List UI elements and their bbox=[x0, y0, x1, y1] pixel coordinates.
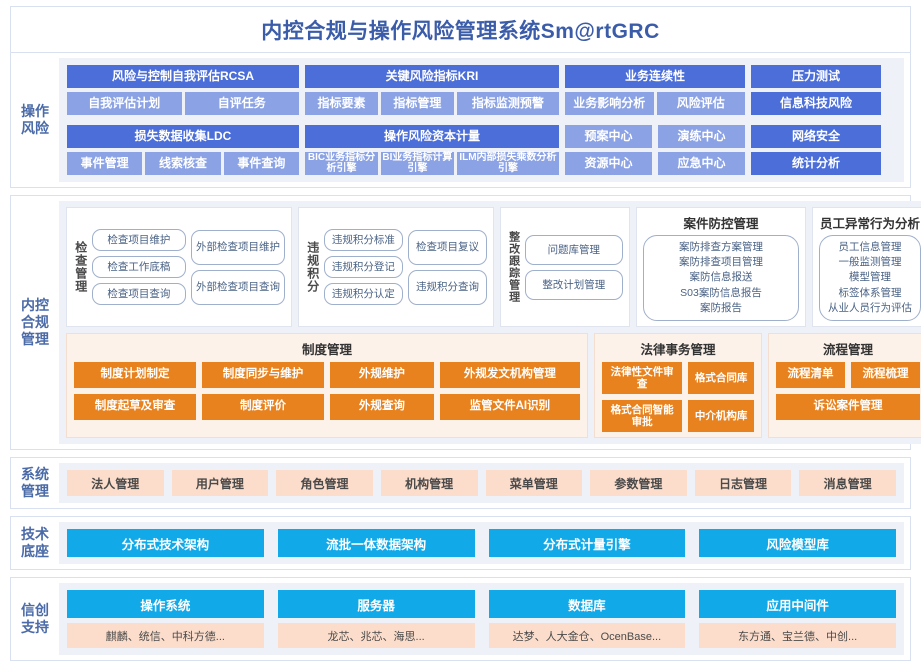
sys-item-org-management[interactable]: 机构管理 bbox=[381, 470, 478, 496]
band-operational-risk: 操作 风险 风险与控制自我评估RCSA 自我评估计划 自评任务 关键风险指标 bbox=[10, 52, 911, 188]
xc-group-middleware: 应用中间件 东方通、宝兰德、中创... bbox=[699, 590, 896, 648]
ic-list-item[interactable]: 案防排查方案管理 bbox=[652, 240, 790, 255]
op-item-bi-engine[interactable]: BI业务指标计算引擎 bbox=[381, 152, 454, 175]
op-item-plan-center[interactable]: 预案中心 bbox=[565, 125, 652, 148]
label-line: 技术 bbox=[21, 526, 49, 543]
ic-pill-inspection-working-paper[interactable]: 检查工作底稿 bbox=[92, 256, 186, 278]
or-item-policy-draft-review[interactable]: 制度起草及审查 bbox=[74, 394, 196, 420]
page-title-bar: 内控合规与操作风险管理系统Sm@rtGRC bbox=[10, 6, 911, 52]
xc-title-os[interactable]: 操作系统 bbox=[67, 590, 264, 618]
op-group-plan-center: 预案中心 资源中心 bbox=[565, 125, 652, 175]
ic-title-employee-behavior: 员工异常行为分析 bbox=[819, 213, 921, 232]
or-item-external-rule-query[interactable]: 外规查询 bbox=[330, 394, 434, 420]
band-label-xinchuang-support: 信创 支持 bbox=[11, 578, 59, 660]
op-group-capital-measurement: 操作风险资本计量 BIC业务指标分析引擎 BI业务指标计算引擎 ILM内部损失乘… bbox=[305, 125, 559, 175]
ic-card-inspection-management: 检查管理 检查项目维护 检查工作底稿 检查项目查询 外部检查项目维护 外部检查项… bbox=[66, 207, 292, 327]
op-item-it-risk[interactable]: 信息科技风险 bbox=[751, 92, 881, 115]
ic-card-row: 检查管理 检查项目维护 检查工作底稿 检查项目查询 外部检查项目维护 外部检查项… bbox=[66, 207, 921, 327]
or-card-legal-affairs: 法律事务管理 法律性文件审查 格式合同智能审批 格式合同库 中介机构库 bbox=[594, 333, 762, 438]
ic-pill-rectification-plan-management[interactable]: 整改计划管理 bbox=[525, 270, 623, 300]
or-item-external-issuing-agency-mgmt[interactable]: 外规发文机构管理 bbox=[440, 362, 580, 388]
op-group-business-continuity: 业务连续性 业务影响分析 风险评估 bbox=[565, 65, 745, 115]
ic-card-employee-behavior: 员工异常行为分析 员工信息管理 一般监测管理 模型管理 标签体系管理 从业人员行… bbox=[812, 207, 921, 327]
op-group-drill-center: 演练中心 应急中心 bbox=[658, 125, 745, 175]
xc-group-os: 操作系统 麒麟、统信、中科方德... bbox=[67, 590, 264, 648]
tech-item-distributed-measurement-engine[interactable]: 分布式计量引擎 bbox=[489, 529, 686, 557]
op-item-indicator-elements[interactable]: 指标要素 bbox=[305, 92, 378, 115]
band-body-internal-control: 检查管理 检查项目维护 检查工作底稿 检查项目查询 外部检查项目维护 外部检查项… bbox=[59, 201, 921, 444]
or-item-policy-evaluation[interactable]: 制度评价 bbox=[202, 394, 324, 420]
sys-item-menu-management[interactable]: 菜单管理 bbox=[486, 470, 583, 496]
ic-pill-external-inspection-maintain[interactable]: 外部检查项目维护 bbox=[191, 230, 285, 265]
op-item-emergency-center[interactable]: 应急中心 bbox=[658, 152, 745, 175]
page-title: 内控合规与操作风险管理系统Sm@rtGRC bbox=[261, 15, 660, 45]
tech-base-items: 分布式技术架构 流批一体数据架构 分布式计量引擎 风险模型库 bbox=[59, 522, 904, 564]
label-line: 管理 bbox=[21, 331, 49, 348]
ic-card-case-prevention: 案件防控管理 案防排查方案管理 案防排查项目管理 案防信息报送 S03案防信息报… bbox=[636, 207, 806, 327]
op-item-event-management[interactable]: 事件管理 bbox=[67, 152, 142, 175]
or-title-process-management: 流程管理 bbox=[776, 339, 920, 358]
xc-group-database: 数据库 达梦、人大金仓、OcenBase... bbox=[489, 590, 686, 648]
op-header-capital-measurement[interactable]: 操作风险资本计量 bbox=[305, 125, 559, 148]
tech-item-distributed-architecture[interactable]: 分布式技术架构 bbox=[67, 529, 264, 557]
or-item-regulatory-doc-ai-recognition[interactable]: 监管文件AI识别 bbox=[440, 394, 580, 420]
band-body-system-management: 法人管理 用户管理 角色管理 机构管理 菜单管理 参数管理 日志管理 消息管理 bbox=[59, 463, 904, 503]
op-item-self-assessment-plan[interactable]: 自我评估计划 bbox=[67, 92, 182, 115]
ic-list-item[interactable]: 标签体系管理 bbox=[828, 286, 912, 301]
sys-item-parameter-management[interactable]: 参数管理 bbox=[590, 470, 687, 496]
or-title-policy-management: 制度管理 bbox=[74, 339, 580, 358]
label-line: 管理 bbox=[21, 483, 49, 500]
ic-list-item[interactable]: 案防排查项目管理 bbox=[652, 255, 790, 270]
xc-title-database[interactable]: 数据库 bbox=[489, 590, 686, 618]
ic-pill-violation-point-query[interactable]: 违规积分查询 bbox=[408, 270, 487, 305]
op-risk-row-1: 风险与控制自我评估RCSA 自我评估计划 自评任务 关键风险指标KRI 指标要素… bbox=[67, 65, 896, 115]
op-item-self-assessment-task[interactable]: 自评任务 bbox=[185, 92, 300, 115]
label-line: 信创 bbox=[21, 602, 49, 619]
op-header-business-continuity[interactable]: 业务连续性 bbox=[565, 65, 745, 88]
or-item-policy-plan-formulation[interactable]: 制度计划制定 bbox=[74, 362, 196, 388]
op-group-stress-test: 压力测试 信息科技风险 bbox=[751, 65, 881, 115]
ic-pill-inspection-item-maintain[interactable]: 检查项目维护 bbox=[92, 229, 186, 251]
op-header-ldc[interactable]: 损失数据收集LDC bbox=[67, 125, 299, 148]
op-item-resource-center[interactable]: 资源中心 bbox=[565, 152, 652, 175]
sys-item-message-management[interactable]: 消息管理 bbox=[799, 470, 896, 496]
label-line: 内控 bbox=[21, 297, 49, 314]
ic-list-item[interactable]: 案防信息报送 bbox=[652, 270, 790, 285]
system-architecture-diagram: 内控合规与操作风险管理系统Sm@rtGRC 操作 风险 风险与控制自我评估RCS… bbox=[0, 0, 921, 640]
op-header-rcsa[interactable]: 风险与控制自我评估RCSA bbox=[67, 65, 299, 88]
xc-title-middleware[interactable]: 应用中间件 bbox=[699, 590, 896, 618]
ic-pill-issue-library-management[interactable]: 问题库管理 bbox=[525, 235, 623, 265]
or-item-process-combing[interactable]: 流程梳理 bbox=[851, 362, 920, 388]
op-item-clue-verification[interactable]: 线索核查 bbox=[145, 152, 220, 175]
or-item-external-rule-maintain[interactable]: 外规维护 bbox=[330, 362, 434, 388]
xc-desc-middleware: 东方通、宝兰德、中创... bbox=[699, 623, 896, 648]
ic-pill-external-inspection-query[interactable]: 外部检查项目查询 bbox=[191, 270, 285, 305]
band-body-tech-base: 分布式技术架构 流批一体数据架构 分布式计量引擎 风险模型库 bbox=[59, 522, 904, 564]
or-item-policy-sync-maintain[interactable]: 制度同步与维护 bbox=[202, 362, 324, 388]
label-line: 支持 bbox=[21, 619, 49, 636]
ic-pill-violation-point-register[interactable]: 违规积分登记 bbox=[324, 256, 403, 278]
band-label-operational-risk: 操作 风险 bbox=[11, 53, 59, 187]
tech-item-risk-model-library[interactable]: 风险模型库 bbox=[699, 529, 896, 557]
band-internal-control: 内控 合规 管理 检查管理 检查项目维护 检查工作底稿 检查项目查询 bbox=[10, 195, 911, 450]
ic-pill-inspection-item-query[interactable]: 检查项目查询 bbox=[92, 283, 186, 305]
ic-list-case-prevention[interactable]: 案防排查方案管理 案防排查项目管理 案防信息报送 S03案防信息报告 案防报告 bbox=[643, 235, 799, 321]
label-line: 合规 bbox=[21, 314, 49, 331]
xc-desc-server: 龙芯、兆芯、海思... bbox=[278, 623, 475, 648]
sys-item-log-management[interactable]: 日志管理 bbox=[695, 470, 792, 496]
op-item-business-impact-analysis[interactable]: 业务影响分析 bbox=[565, 92, 654, 115]
ic-title-case-prevention: 案件防控管理 bbox=[643, 213, 799, 232]
tech-item-stream-batch-data-architecture[interactable]: 流批一体数据架构 bbox=[278, 529, 475, 557]
label-line: 底座 bbox=[21, 543, 49, 560]
ic-pill-violation-point-confirm[interactable]: 违规积分认定 bbox=[324, 283, 403, 305]
ic-pill-inspection-item-review[interactable]: 检查项目复议 bbox=[408, 230, 487, 265]
op-header-kri[interactable]: 关键风险指标KRI bbox=[305, 65, 559, 88]
op-group-ldc: 损失数据收集LDC 事件管理 线索核查 事件查询 bbox=[67, 125, 299, 175]
op-item-statistical-analysis[interactable]: 统计分析 bbox=[751, 152, 881, 175]
ic-list-item[interactable]: S03案防信息报告 bbox=[652, 286, 790, 301]
or-item-process-list[interactable]: 流程清单 bbox=[776, 362, 845, 388]
label-line: 风险 bbox=[21, 120, 49, 137]
xc-title-server[interactable]: 服务器 bbox=[278, 590, 475, 618]
band-system-management: 系统 管理 法人管理 用户管理 角色管理 机构管理 菜单管理 参数管理 日志管理… bbox=[10, 457, 911, 509]
xc-group-server: 服务器 龙芯、兆芯、海思... bbox=[278, 590, 475, 648]
sys-item-user-management[interactable]: 用户管理 bbox=[172, 470, 269, 496]
or-item-intermediary-agency-library[interactable]: 中介机构库 bbox=[688, 400, 754, 432]
ic-list-item[interactable]: 从业人员行为评估 bbox=[828, 301, 912, 316]
sys-item-role-management[interactable]: 角色管理 bbox=[276, 470, 373, 496]
ic-list-item[interactable]: 一般监测管理 bbox=[828, 255, 912, 270]
xc-desc-database: 达梦、人大金仓、OcenBase... bbox=[489, 623, 686, 648]
op-item-network-security[interactable]: 网络安全 bbox=[751, 125, 881, 148]
or-item-standard-contract-library[interactable]: 格式合同库 bbox=[688, 362, 754, 394]
op-item-risk-assessment[interactable]: 风险评估 bbox=[657, 92, 746, 115]
op-risk-row-2: 损失数据收集LDC 事件管理 线索核查 事件查询 操作风险资本计量 BIC业务指… bbox=[67, 125, 896, 175]
op-item-bic-engine[interactable]: BIC业务指标分析引擎 bbox=[305, 152, 378, 175]
op-item-indicator-monitoring-alert[interactable]: 指标监测预警 bbox=[457, 92, 559, 115]
band-label-tech-base: 技术 底座 bbox=[11, 517, 59, 569]
ic-list-item[interactable]: 员工信息管理 bbox=[828, 240, 912, 255]
ic-list-item[interactable]: 案防报告 bbox=[652, 301, 790, 316]
or-card-policy-management: 制度管理 制度计划制定 制度起草及审查 制度同步与维护 制度评价 bbox=[66, 333, 588, 438]
ic-list-employee-behavior[interactable]: 员工信息管理 一般监测管理 模型管理 标签体系管理 从业人员行为评估 bbox=[819, 235, 921, 321]
band-body-operational-risk: 风险与控制自我评估RCSA 自我评估计划 自评任务 关键风险指标KRI 指标要素… bbox=[59, 58, 904, 182]
or-item-litigation-case-management[interactable]: 诉讼案件管理 bbox=[776, 394, 920, 420]
ic-card-violation-points: 违规积分 违规积分标准 违规积分登记 违规积分认定 检查项目复议 违规积分查询 bbox=[298, 207, 494, 327]
ic-orange-row: 制度管理 制度计划制定 制度起草及审查 制度同步与维护 制度评价 bbox=[66, 333, 921, 438]
ic-pill-violation-point-standard[interactable]: 违规积分标准 bbox=[324, 229, 403, 251]
band-body-xinchuang-support: 操作系统 麒麟、统信、中科方德... 服务器 龙芯、兆芯、海思... 数据库 达… bbox=[59, 583, 904, 655]
op-item-indicator-management[interactable]: 指标管理 bbox=[381, 92, 454, 115]
or-card-process-management: 流程管理 流程清单 流程梳理 诉讼案件管理 bbox=[768, 333, 921, 438]
band-xinchuang-support: 信创 支持 操作系统 麒麟、统信、中科方德... 服务器 龙芯、兆芯、海思...… bbox=[10, 577, 911, 661]
op-item-event-query[interactable]: 事件查询 bbox=[224, 152, 299, 175]
or-item-standard-contract-ai-approval[interactable]: 格式合同智能审批 bbox=[602, 400, 682, 432]
op-group-network-security: 网络安全 统计分析 bbox=[751, 125, 881, 175]
or-title-legal-affairs: 法律事务管理 bbox=[602, 339, 754, 358]
ic-vlabel-rectification-tracking: 整改跟踪管理 bbox=[507, 231, 520, 303]
band-tech-base: 技术 底座 分布式技术架构 流批一体数据架构 分布式计量引擎 风险模型库 bbox=[10, 516, 911, 570]
op-group-rcsa: 风险与控制自我评估RCSA 自我评估计划 自评任务 bbox=[67, 65, 299, 115]
xinchuang-items: 操作系统 麒麟、统信、中科方德... 服务器 龙芯、兆芯、海思... 数据库 达… bbox=[59, 583, 904, 655]
ic-list-item[interactable]: 模型管理 bbox=[828, 270, 912, 285]
label-line: 操作 bbox=[21, 103, 49, 120]
system-mgmt-items: 法人管理 用户管理 角色管理 机构管理 菜单管理 参数管理 日志管理 消息管理 bbox=[59, 463, 904, 503]
or-item-legal-document-review[interactable]: 法律性文件审查 bbox=[602, 362, 682, 394]
op-item-ilm-engine[interactable]: ILM内部损失乘数分析引擎 bbox=[457, 152, 559, 175]
ic-card-rectification-tracking: 整改跟踪管理 问题库管理 整改计划管理 bbox=[500, 207, 630, 327]
ic-vlabel-violation-points: 违规积分 bbox=[305, 241, 319, 293]
band-label-internal-control: 内控 合规 管理 bbox=[11, 196, 59, 449]
ic-vlabel-inspection-management: 检查管理 bbox=[73, 241, 87, 293]
op-group-kri: 关键风险指标KRI 指标要素 指标管理 指标监测预警 bbox=[305, 65, 559, 115]
label-line: 系统 bbox=[21, 466, 49, 483]
band-label-system-management: 系统 管理 bbox=[11, 458, 59, 508]
xc-desc-os: 麒麟、统信、中科方德... bbox=[67, 623, 264, 648]
sys-item-legal-entity-management[interactable]: 法人管理 bbox=[67, 470, 164, 496]
op-header-stress-test[interactable]: 压力测试 bbox=[751, 65, 881, 88]
op-item-drill-center[interactable]: 演练中心 bbox=[658, 125, 745, 148]
